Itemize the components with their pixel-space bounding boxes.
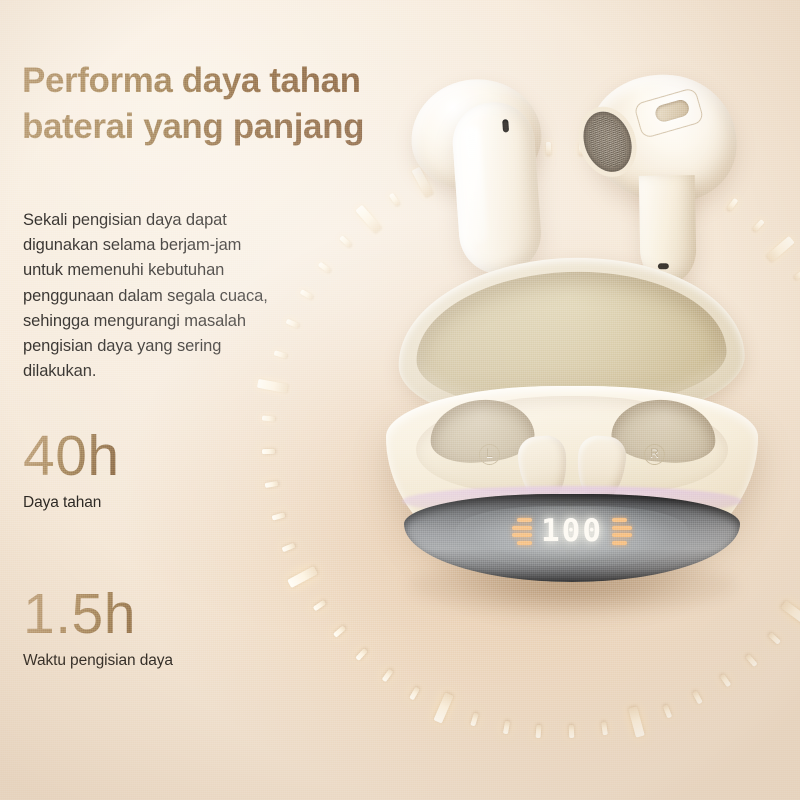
battery-indicator: 100 <box>404 516 740 547</box>
left-earbud-microphone-icon <box>502 119 509 132</box>
stat-endurance-label: Daya tahan <box>23 494 120 512</box>
stat-charging-time: 1.5h Waktu pengisian daya <box>23 586 173 670</box>
charging-case: L R 100 <box>386 258 766 648</box>
product-marketing-banner: L R 100 Performa daya tahan baterai yang… <box>0 0 800 800</box>
cradle-marker-right: R <box>644 444 665 465</box>
page-title: Performa daya tahan baterai yang panjang <box>22 58 382 149</box>
stat-endurance-value: 40h <box>23 428 120 485</box>
battery-percent-value: 100 <box>541 516 603 547</box>
stat-endurance: 40h Daya tahan <box>23 428 120 512</box>
body-paragraph: Sekali pengisian daya dapat digunakan se… <box>23 208 281 385</box>
cradle-marker-left: L <box>479 444 500 465</box>
left-earbud-stem <box>450 99 544 276</box>
battery-bars-right-icon <box>612 518 632 545</box>
battery-bars-left-icon <box>512 518 532 545</box>
left-earbud <box>401 66 595 283</box>
stat-charging-time-value: 1.5h <box>23 586 173 643</box>
stat-charging-time-label: Waktu pengisian daya <box>23 652 173 670</box>
